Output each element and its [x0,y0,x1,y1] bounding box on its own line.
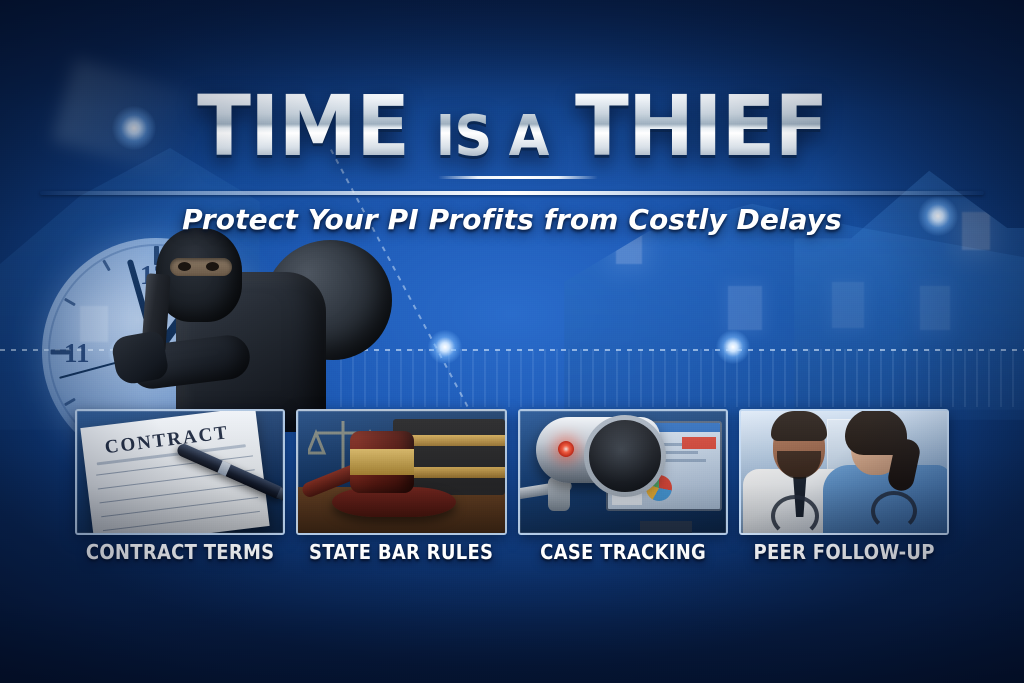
vignette-overlay [0,0,1024,683]
poster-canvas: 12 1 11 6 TIME IS A THIEF Protect Your P… [0,0,1024,683]
